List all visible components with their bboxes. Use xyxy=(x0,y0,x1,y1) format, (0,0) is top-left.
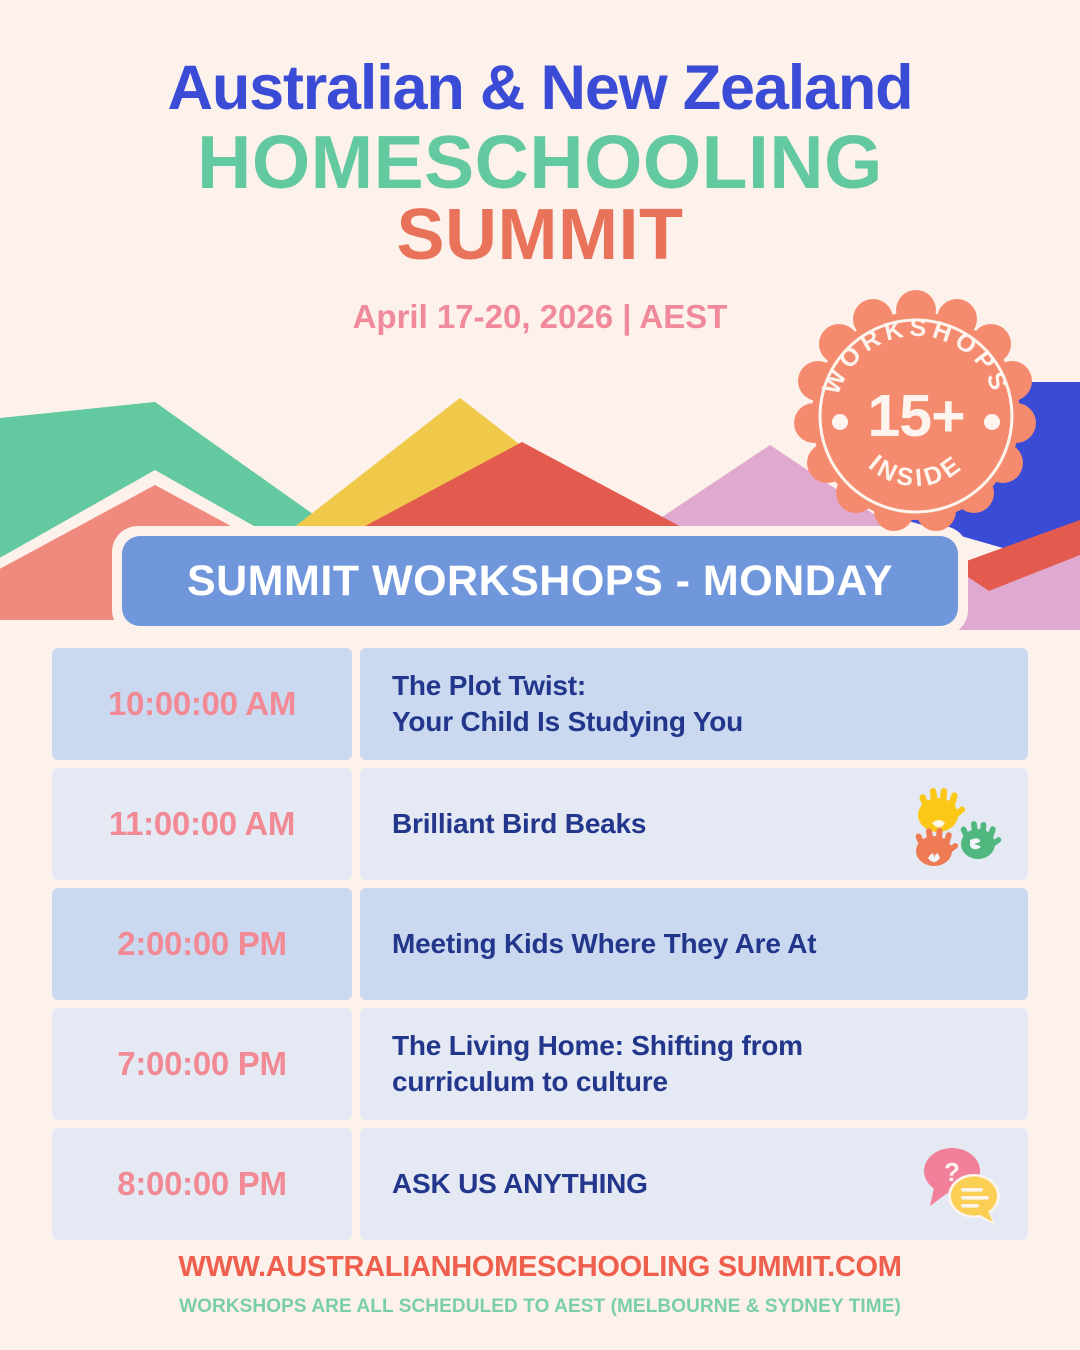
website-url[interactable]: WWW.AUSTRALIANHOMESCHOOLING SUMMIT.COM xyxy=(0,1251,1080,1284)
handprint-green xyxy=(960,821,1002,859)
schedule-session-title: Brilliant Bird Beaks xyxy=(392,806,646,842)
speech-bubbles-icon: ? xyxy=(908,1138,1006,1230)
badge-dot-left xyxy=(832,414,848,430)
schedule-list: 10:00:00 AM The Plot Twist: Your Child I… xyxy=(52,648,1028,1248)
day-banner-label: SUMMIT WORKSHOPS - MONDAY xyxy=(187,557,893,606)
schedule-time: 8:00:00 PM xyxy=(117,1165,286,1203)
handprint-orange xyxy=(915,828,960,866)
timezone-note: WORKSHOPS ARE ALL SCHEDULED TO AEST (MEL… xyxy=(0,1296,1080,1318)
schedule-time-cell: 2:00:00 PM xyxy=(52,888,352,1000)
schedule-time: 2:00:00 PM xyxy=(117,925,286,963)
day-banner-frame: SUMMIT WORKSHOPS - MONDAY xyxy=(112,526,968,636)
schedule-time-cell: 10:00:00 AM xyxy=(52,648,352,760)
schedule-title-cell: The Plot Twist: Your Child Is Studying Y… xyxy=(360,648,1028,760)
schedule-time-cell: 7:00:00 PM xyxy=(52,1008,352,1120)
schedule-title-cell: Brilliant Bird Beaks xyxy=(360,768,1028,880)
schedule-title-cell: ASK US ANYTHING ? xyxy=(360,1128,1028,1240)
schedule-session-title: Meeting Kids Where They Are At xyxy=(392,926,816,962)
schedule-time: 10:00:00 AM xyxy=(108,685,296,723)
table-row[interactable]: 11:00:00 AM Brilliant Bird Beaks xyxy=(52,768,1028,880)
speech-bubble-yellow xyxy=(948,1174,1000,1226)
title-line-2: HOMESCHOOLING xyxy=(0,124,1080,201)
handprints-icon xyxy=(908,778,1006,870)
title-line-3: SUMMIT xyxy=(0,199,1080,272)
poster-title-block: Australian & New Zealand HOMESCHOOLING S… xyxy=(0,0,1080,336)
poster-canvas: Australian & New Zealand HOMESCHOOLING S… xyxy=(0,0,1080,1350)
schedule-time: 11:00:00 AM xyxy=(109,805,295,843)
schedule-session-title: The Plot Twist: Your Child Is Studying Y… xyxy=(392,668,743,740)
table-row[interactable]: 2:00:00 PM Meeting Kids Where They Are A… xyxy=(52,888,1028,1000)
schedule-title-cell: The Living Home: Shifting from curriculu… xyxy=(360,1008,1028,1120)
table-row[interactable]: 7:00:00 PM The Living Home: Shifting fro… xyxy=(52,1008,1028,1120)
day-banner: SUMMIT WORKSHOPS - MONDAY xyxy=(122,536,958,626)
schedule-time-cell: 11:00:00 AM xyxy=(52,768,352,880)
table-row[interactable]: 10:00:00 AM The Plot Twist: Your Child I… xyxy=(52,648,1028,760)
schedule-title-cell: Meeting Kids Where They Are At xyxy=(360,888,1028,1000)
badge-dot-right xyxy=(984,414,1000,430)
schedule-session-title: The Living Home: Shifting from curriculu… xyxy=(392,1028,803,1100)
poster-footer: WWW.AUSTRALIANHOMESCHOOLING SUMMIT.COM W… xyxy=(0,1251,1080,1318)
schedule-time-cell: 8:00:00 PM xyxy=(52,1128,352,1240)
title-line-1: Australian & New Zealand xyxy=(0,54,1080,122)
schedule-time: 7:00:00 PM xyxy=(117,1045,286,1083)
workshops-inside-badge: WORKSHOPS INSIDE 15+ xyxy=(800,300,1032,532)
schedule-session-title: ASK US ANYTHING xyxy=(392,1166,648,1202)
table-row[interactable]: 8:00:00 PM ASK US ANYTHING ? xyxy=(52,1128,1028,1240)
handprint-yellow xyxy=(918,788,966,832)
